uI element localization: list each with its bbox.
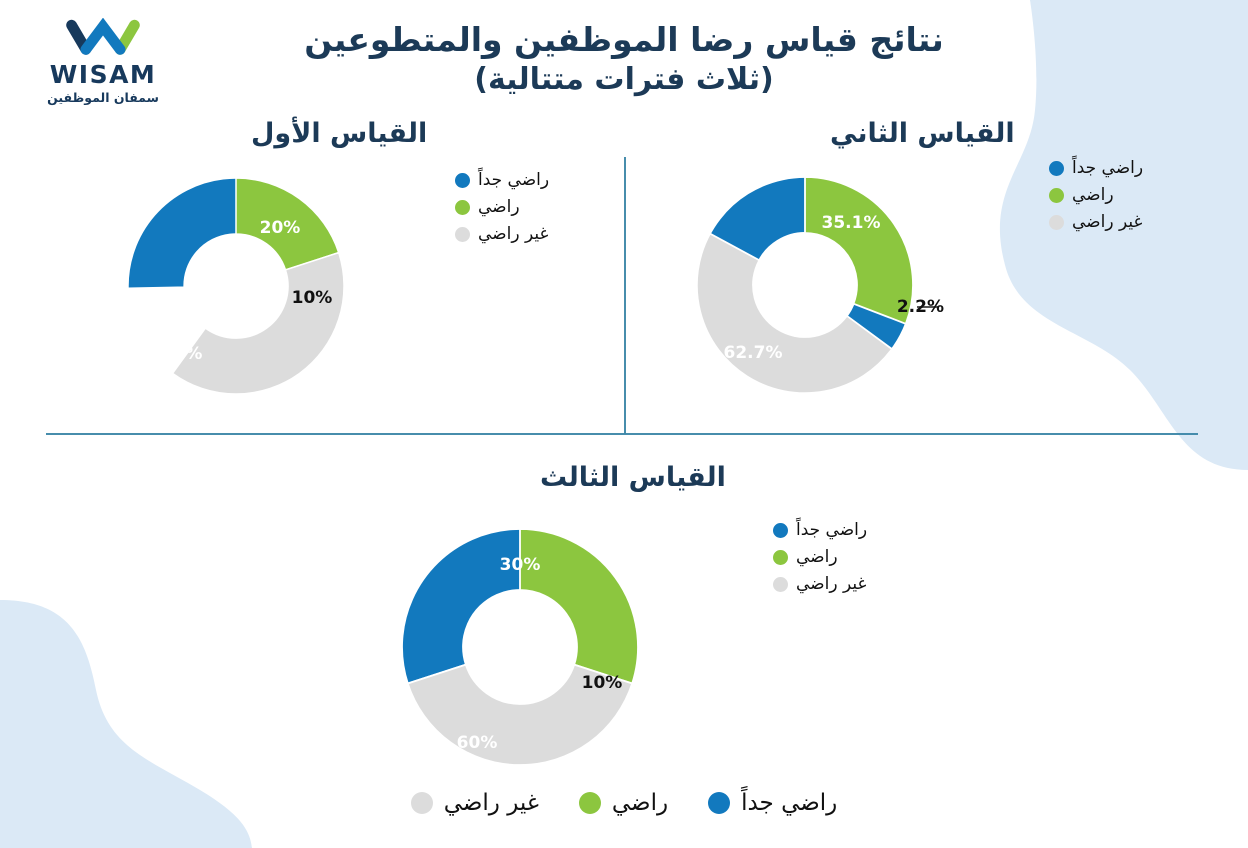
title-line-1: نتائج قياس رضا الموظفين والمتطوعين	[0, 20, 1248, 61]
legend-dot-very-satisfied	[773, 523, 788, 538]
slice-label-not-satisfied-1: 10%	[292, 288, 333, 308]
legend-item-satisfied[interactable]: راضي	[455, 197, 549, 217]
vertical-divider	[624, 157, 626, 434]
slice-label-satisfied-3: 30%	[500, 555, 541, 575]
chart-panel-measure-2: القياس الثاني 35.1% 62.7% 2.2% راضي جداً	[640, 118, 1200, 433]
legend-dot-very-satisfied	[708, 792, 730, 814]
legend-dot-very-satisfied	[1049, 161, 1064, 176]
legend-item-satisfied[interactable]: راضي	[773, 547, 867, 567]
legend-label-very-satisfied: راضي جداً	[741, 790, 837, 816]
slice-label-very-satisfied-1: 70%	[162, 344, 203, 364]
page-title: نتائج قياس رضا الموظفين والمتطوعين (ثلاث…	[0, 20, 1248, 98]
legend-label-satisfied: راضي	[478, 197, 520, 217]
slice-label-satisfied-1: 20%	[260, 218, 301, 238]
donut-chart-measure-3: 30% 10% 60%	[390, 512, 670, 782]
slice-satisfied	[520, 529, 638, 684]
legend-label-very-satisfied: راضي جداً	[1072, 158, 1143, 178]
slice-label-very-satisfied-2: 62.7%	[724, 343, 783, 363]
chart-title-measure-2: القياس الثاني	[830, 118, 1015, 149]
poster-canvas: WISAM سمفان الموظفين نتائج قياس رضا المو…	[0, 0, 1248, 848]
legend-dot-not-satisfied	[455, 227, 470, 242]
legend-dot-not-satisfied	[773, 577, 788, 592]
chart-legend-measure-1: راضي جداً راضي غير راضي	[455, 170, 549, 244]
bottom-legend-item-very-satisfied[interactable]: راضي جداً	[708, 790, 837, 816]
legend-dot-satisfied	[455, 200, 470, 215]
legend-label-satisfied: راضي	[1072, 185, 1114, 205]
legend-label-very-satisfied: راضي جداً	[478, 170, 549, 190]
donut-chart-measure-1: 20% 10% 70%	[116, 166, 356, 406]
bottom-legend-item-satisfied[interactable]: راضي	[579, 790, 668, 816]
chart-title-measure-3: القياس الثالث	[540, 462, 726, 493]
slice-label-very-satisfied-3: 60%	[457, 733, 498, 753]
slice-label-not-satisfied-2: 2.2%	[897, 297, 944, 317]
legend-item-very-satisfied[interactable]: راضي جداً	[455, 170, 549, 190]
legend-label-satisfied: راضي	[612, 790, 668, 816]
chart-panel-measure-3: القياس الثالث 30% 10% 60% راضي جداً	[330, 462, 930, 782]
legend-label-very-satisfied: راضي جداً	[796, 520, 867, 540]
donut-chart-measure-2: 35.1% 62.7% 2.2%	[680, 160, 1010, 410]
legend-dot-very-satisfied	[455, 173, 470, 188]
chart-legend-measure-3: راضي جداً راضي غير راضي	[773, 520, 867, 594]
bottom-legend-item-not-satisfied[interactable]: غير راضي	[411, 790, 539, 816]
legend-dot-satisfied	[579, 792, 601, 814]
slice-label-satisfied-2: 35.1%	[822, 213, 881, 233]
legend-label-not-satisfied: غير راضي	[796, 574, 866, 594]
legend-label-not-satisfied: غير راضي	[1072, 212, 1142, 232]
legend-item-very-satisfied[interactable]: راضي جداً	[773, 520, 867, 540]
title-line-2: (ثلاث فترات متتالية)	[0, 61, 1248, 98]
legend-item-not-satisfied[interactable]: غير راضي	[1049, 212, 1143, 232]
legend-item-not-satisfied[interactable]: غير راضي	[773, 574, 867, 594]
chart-legend-measure-2: راضي جداً راضي غير راضي	[1049, 158, 1143, 232]
horizontal-divider	[46, 433, 1198, 435]
legend-label-not-satisfied: غير راضي	[444, 790, 539, 816]
legend-dot-satisfied	[773, 550, 788, 565]
legend-label-satisfied: راضي	[796, 547, 838, 567]
legend-dot-satisfied	[1049, 188, 1064, 203]
legend-item-not-satisfied[interactable]: غير راضي	[455, 224, 549, 244]
legend-item-very-satisfied[interactable]: راضي جداً	[1049, 158, 1143, 178]
legend-dot-not-satisfied	[411, 792, 433, 814]
legend-dot-not-satisfied	[1049, 215, 1064, 230]
chart-panel-measure-1: القياس الأول 20% 10% 70% راضي جداً	[46, 118, 616, 433]
slice-label-not-satisfied-3: 10%	[582, 673, 623, 693]
bottom-legend: راضي جداً راضي غير راضي	[0, 790, 1248, 816]
legend-label-not-satisfied: غير راضي	[478, 224, 548, 244]
legend-item-satisfied[interactable]: راضي	[1049, 185, 1143, 205]
chart-title-measure-1: القياس الأول	[251, 118, 427, 149]
